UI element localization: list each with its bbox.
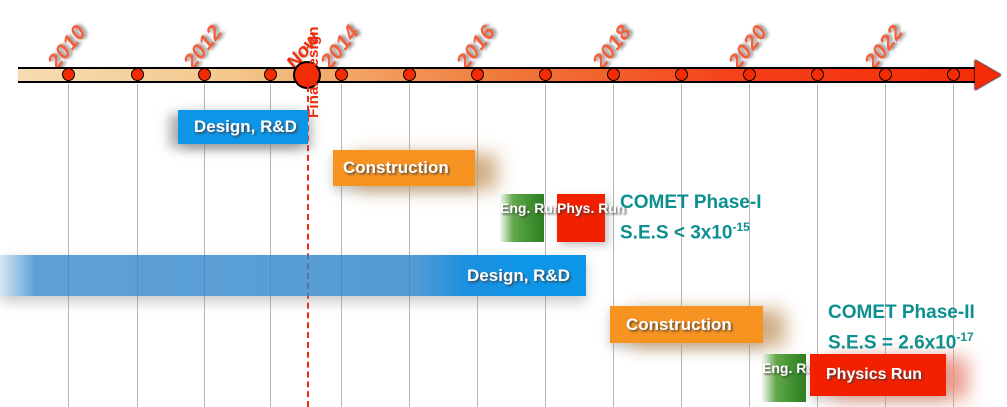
- gridline: [137, 84, 138, 407]
- final-design-label: Final Design: [305, 26, 322, 118]
- phase1-design-rd-bar[interactable]: Design, R&D: [178, 110, 308, 144]
- phase2-design-rd-label: Design, R&D: [467, 266, 586, 286]
- axis-tick: [335, 68, 348, 81]
- phase1-engineering-run-label: Eng. Run: [500, 199, 544, 217]
- phase1-title: COMET Phase-I: [620, 190, 761, 215]
- gridline: [68, 84, 69, 407]
- axis-tick: [131, 68, 144, 81]
- gridline: [545, 84, 546, 407]
- phase1-physics-run-label: Phys. Run: [557, 199, 605, 217]
- phase1-ses-exponent: -15: [733, 220, 750, 234]
- phase2-design-rd-bar[interactable]: Design, R&D: [0, 255, 586, 296]
- axis-tick: [539, 68, 552, 81]
- axis-arrow-icon: [975, 60, 1001, 90]
- axis-bar: [18, 67, 983, 83]
- phase2-ses-prefix: S.E.S = 2.6x10: [828, 332, 956, 353]
- phase2-annotation: COMET Phase-II S.E.S = 2.6x10-17: [828, 300, 975, 355]
- gridline: [953, 84, 954, 407]
- phase1-physics-run-box[interactable]: Phys. Run: [557, 194, 605, 242]
- gridline: [477, 84, 478, 407]
- axis-tick: [198, 68, 211, 81]
- phase1-ses-prefix: S.E.S < 3x10: [620, 222, 733, 243]
- phase1-ses: S.E.S < 3x10-15: [620, 215, 761, 245]
- axis-tick: [947, 68, 960, 81]
- phase2-physics-run-bar[interactable]: Physics Run: [810, 354, 946, 396]
- phase1-construction-label: Construction: [333, 158, 449, 178]
- axis-tick: [811, 68, 824, 81]
- gridline: [613, 84, 614, 407]
- axis-tick: [743, 68, 756, 81]
- timeline-axis: [0, 58, 1007, 92]
- gridline: [341, 84, 342, 407]
- phase2-engineering-run-box[interactable]: Eng. Run: [762, 354, 806, 402]
- axis-tick: [879, 68, 892, 81]
- phase2-ses: S.E.S = 2.6x10-17: [828, 325, 975, 355]
- phase2-ses-exponent: -17: [956, 330, 973, 344]
- axis-tick: [62, 68, 75, 81]
- phase1-annotation: COMET Phase-I S.E.S < 3x10-15: [620, 190, 761, 245]
- phase2-engineering-run-label: Eng. Run: [762, 359, 806, 377]
- gridline: [681, 84, 682, 407]
- axis-tick: [471, 68, 484, 81]
- gridline: [749, 84, 750, 407]
- phase2-construction-label: Construction: [610, 315, 732, 335]
- axis-tick: [607, 68, 620, 81]
- axis-tick: [675, 68, 688, 81]
- phase1-construction-bar[interactable]: Construction: [333, 150, 475, 186]
- gridline: [409, 84, 410, 407]
- phase1-design-rd-label: Design, R&D: [178, 117, 297, 137]
- comet-timeline-diagram: 2010 2012 2014 2016 2018 2020 2022 Now F…: [0, 0, 1007, 407]
- phase2-physics-run-label: Physics Run: [810, 366, 922, 384]
- phase2-construction-bar[interactable]: Construction: [610, 306, 763, 343]
- axis-tick: [264, 68, 277, 81]
- phase2-title: COMET Phase-II: [828, 300, 975, 325]
- phase1-engineering-run-box[interactable]: Eng. Run: [500, 194, 544, 242]
- axis-tick: [403, 68, 416, 81]
